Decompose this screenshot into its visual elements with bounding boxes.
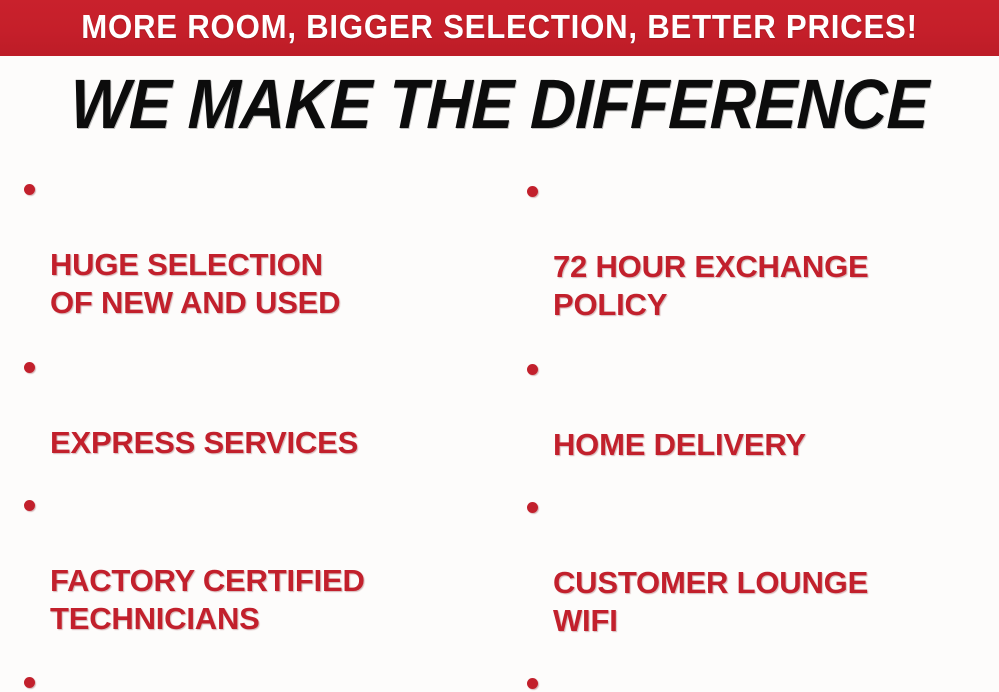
bullet-dot-icon — [24, 500, 35, 511]
list-item-label: EXPRESS SERVICES — [50, 425, 358, 460]
list-item: EXPRESS SERVICES — [14, 348, 500, 462]
list-item-label: CUSTOMER LOUNGE WIFI — [553, 565, 868, 638]
bullet-dot-icon — [24, 184, 35, 195]
list-item-label: 72 HOUR EXCHANGE POLICY — [553, 249, 868, 322]
list-item-label: HUGE SELECTION OF NEW AND USED — [50, 247, 340, 320]
list-item: HUGE SELECTION OF NEW AND USED — [14, 170, 500, 322]
bullet-dot-icon — [527, 364, 538, 375]
list-item: FACTORY CERTIFIED TECHNICIANS — [14, 486, 500, 638]
list-item: CUSTOMER LOUNGE WIFI — [517, 488, 999, 640]
bullet-dot-icon — [24, 362, 35, 373]
banner-headline-text: MORE ROOM, BIGGER SELECTION, BETTER PRIC… — [27, 0, 971, 56]
list-item: HOME DELIVERY — [517, 350, 999, 464]
bullet-dot-icon — [527, 678, 538, 689]
list-item: 72 HOUR EXCHANGE POLICY — [517, 172, 999, 324]
page-title: WE MAKE THE DIFFERENCE — [49, 66, 950, 142]
bullet-dot-icon — [527, 186, 538, 197]
promotional-poster: MORE ROOM, BIGGER SELECTION, BETTER PRIC… — [0, 0, 999, 692]
list-item: COMPLIMENTARY LOANER CARS — [14, 663, 500, 692]
list-item-label: HOME DELIVERY — [553, 427, 806, 462]
list-item: MILITARY DISCOUNTS — [517, 664, 999, 692]
top-banner: MORE ROOM, BIGGER SELECTION, BETTER PRIC… — [0, 0, 999, 56]
list-item-label: FACTORY CERTIFIED TECHNICIANS — [50, 563, 365, 636]
benefits-column-left: HUGE SELECTION OF NEW AND USED EXPRESS S… — [14, 158, 500, 692]
benefits-column-right: 72 HOUR EXCHANGE POLICY HOME DELIVERY CU… — [517, 158, 999, 692]
bullet-dot-icon — [527, 502, 538, 513]
bullet-dot-icon — [24, 677, 35, 688]
